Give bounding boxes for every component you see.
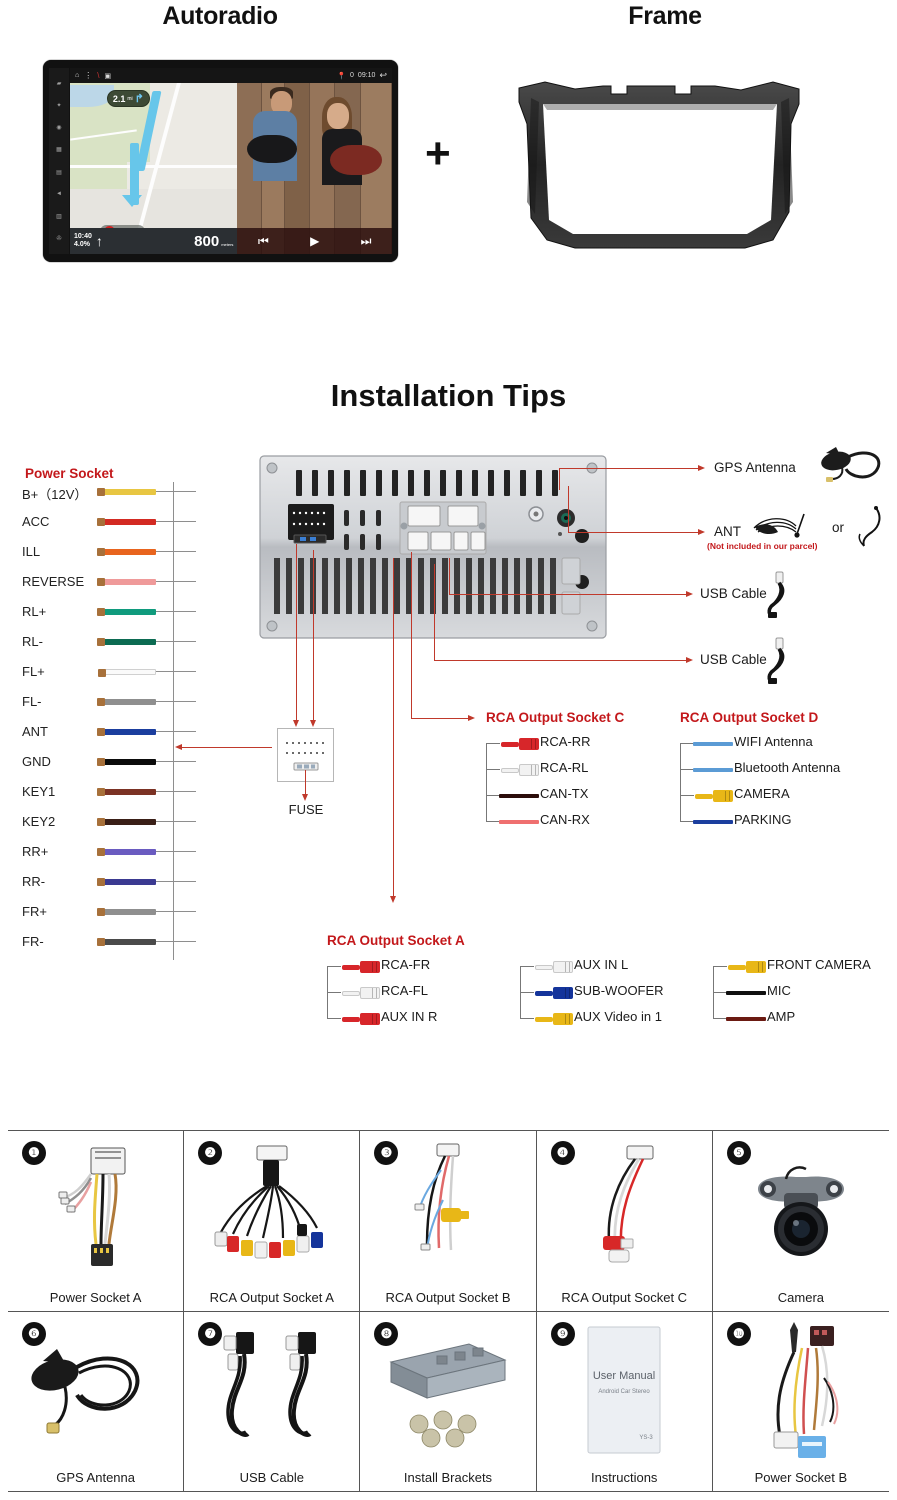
navigation-pane: 2.1 mi ↱ 30 30 mph 10:40 4.0% [70, 83, 237, 254]
power-wire-label: FL- [22, 694, 42, 709]
device-sidebar: ▰ ✦ ◉ ▦ ▤ ◄ ▥ ✇ [49, 68, 69, 254]
previous-track-icon[interactable]: ⏮ [258, 234, 269, 249]
power-wire-label: ACC [22, 514, 49, 529]
socket-item-label: SUB-WOOFER [574, 983, 664, 998]
turn-distance-unit: mi [127, 96, 132, 102]
socket-item-lead [327, 966, 341, 967]
ant-line-v [568, 486, 569, 532]
power-wire-row: REVERSE [22, 574, 192, 592]
power-wire-row: KEY1 [22, 784, 192, 802]
power-wire-swatch [104, 939, 156, 945]
autoradio-title: Autoradio [110, 2, 330, 31]
accessory-label: Power Socket B [755, 1470, 848, 1485]
accessory-cell: ❺ Camera [713, 1131, 889, 1312]
power-wire-lead [156, 641, 196, 642]
power-wire-lead [156, 521, 196, 522]
socket-item-lead [520, 1018, 534, 1019]
socket-item-label: CAN-TX [540, 786, 588, 801]
rca-plug-icon [533, 1013, 573, 1025]
video-pane: ⏮ ▶ ⏭ [237, 83, 392, 254]
screen-body: 2.1 mi ↱ 30 30 mph 10:40 4.0% [70, 83, 392, 254]
socket-item-label: AUX IN L [574, 957, 628, 972]
turn-distance: 2.1 [113, 94, 126, 104]
volume-icon: ◄ [54, 190, 65, 199]
power-wire-lead [156, 881, 196, 882]
socket-bracket [713, 966, 714, 1018]
power-wire-swatch [104, 879, 156, 885]
socket-item-lead [680, 821, 694, 822]
power-wire-label: REVERSE [22, 574, 84, 589]
power-wire-swatch [104, 849, 156, 855]
power-wire-lead [156, 671, 196, 672]
status-time: 09:10 [358, 72, 376, 79]
usb-cable-2-label: USB Cable [700, 652, 767, 667]
power-wire-lead [156, 761, 196, 762]
accessory-cell: ❸ RCA Output Socket B [360, 1131, 536, 1312]
socket-item-label: AMP [767, 1009, 795, 1024]
socket-item-label: WIFI Antenna [734, 734, 813, 749]
power-wire-label: RL- [22, 634, 43, 649]
power-wire-row: RL- [22, 634, 192, 652]
power-wire-lead [156, 731, 196, 732]
chassis-to-fuse-line-2 [313, 550, 314, 722]
accessory-label: Camera [778, 1290, 824, 1305]
accessory-label: Instructions [591, 1470, 657, 1485]
gps-line-h1 [559, 468, 629, 469]
socket-bracket [486, 743, 487, 821]
power-wire-lead [156, 911, 196, 912]
socket-c-title: RCA Output Socket C [486, 710, 624, 725]
accessories-grid: ❶ Power Socket A❷ [8, 1130, 889, 1492]
socket-item: AUX IN L [520, 958, 720, 976]
fuse-to-bracket-line [182, 747, 272, 748]
socket-item: RCA-RL [486, 761, 686, 779]
socket-item: CAMERA [680, 787, 880, 805]
gps-line-h2 [629, 468, 699, 469]
socket-item-label: PARKING [734, 812, 792, 827]
power-wire-lead [156, 791, 196, 792]
socket-bracket [520, 966, 521, 1018]
power-socket-bracket [173, 482, 174, 960]
media-icon: ▤ [54, 168, 65, 177]
socket-item-lead [327, 1018, 341, 1019]
wire-icon [693, 820, 733, 824]
socket-item-lead [680, 743, 694, 744]
power-wire-label: RR+ [22, 844, 48, 859]
rca-plug-icon [499, 738, 539, 750]
socket-item-lead [680, 769, 694, 770]
navigation-bottom-bar: 10:40 4.0% ↑ 800 meters [70, 228, 237, 254]
socket-item-label: Bluetooth Antenna [734, 760, 840, 775]
accessory-label: RCA Output Socket A [210, 1290, 334, 1305]
socket-item: SUB-WOOFER [520, 984, 720, 1002]
power-wire-lead [156, 581, 196, 582]
camera-art [713, 1131, 889, 1290]
socket-a-title: RCA Output Socket A [327, 933, 465, 948]
socketa-arrow-icon [390, 896, 396, 903]
rca-plug-icon [340, 987, 380, 999]
power-wire-row: B+（12V） [22, 484, 192, 502]
power-wire-label: FR+ [22, 904, 47, 919]
head-unit-rear-image [258, 452, 608, 642]
ant-line-h [568, 532, 699, 533]
rca-socket-a-art [184, 1131, 359, 1290]
chassis-to-fuse-line-1 [296, 544, 297, 722]
socket-item: PARKING [680, 813, 880, 831]
power-wire-swatch [104, 639, 156, 645]
device-screen: ⌂ ⋮ \ ▣ 📍 0 09:10 ↩ [70, 68, 392, 254]
wire-icon [726, 991, 766, 995]
wire-icon [693, 768, 733, 772]
power-wire-swatch [104, 789, 156, 795]
accessory-cell: ❻ GPS Antenna [8, 1312, 184, 1493]
power-wire-label: B+（12V） [22, 484, 87, 503]
socket-item-lead [486, 821, 500, 822]
power-wire-swatch [104, 819, 156, 825]
svg-text:Android Car Stereo: Android Car Stereo [599, 1389, 651, 1395]
power-wire-row: FR- [22, 934, 192, 952]
wire-icon [499, 794, 539, 798]
socket-item: FRONT CAMERA [713, 958, 897, 976]
power-wire-label: GND [22, 754, 51, 769]
screen-status-bar: ⌂ ⋮ \ ▣ 📍 0 09:10 ↩ [70, 68, 392, 83]
power-wire-lead [156, 851, 196, 852]
socket-item-label: AUX IN R [381, 1009, 437, 1024]
rca-plug-icon [499, 764, 539, 776]
brackets-art [360, 1312, 535, 1471]
power-wire-swatch [104, 489, 156, 495]
power-wire-row: GND [22, 754, 192, 772]
rca-plug-icon [533, 961, 573, 973]
remaining-distance: 800 [194, 233, 219, 250]
gps-antenna-icon [818, 445, 890, 490]
product-overview-section: Autoradio Frame ▰ ✦ ◉ ▦ ▤ ◄ ▥ ✇ ⌂ ⋮ \ ▣ … [0, 0, 897, 300]
rca-socket-b-art [360, 1131, 535, 1290]
direction-arrow-icon: ↑ [96, 233, 103, 249]
socket-bracket [680, 743, 681, 821]
frame-title: Frame [560, 2, 770, 31]
accessory-label: RCA Output Socket C [561, 1290, 687, 1305]
power-wire-swatch [104, 729, 156, 735]
power-wire-label: RL+ [22, 604, 46, 619]
accessory-cell: ❹ RCA Output Socket C [537, 1131, 713, 1312]
remaining-distance-block: 800 meters [194, 233, 233, 250]
socket-item-label: MIC [767, 983, 791, 998]
gps-antenna-art [8, 1312, 183, 1471]
power-wire-row: FL- [22, 694, 192, 712]
location-icon: ◉ [54, 123, 65, 132]
ant-alt-antenna-icon [856, 506, 892, 555]
back-icon: ↩ [379, 70, 387, 81]
usb-cable-1-icon [762, 570, 792, 623]
power-wire-swatch [104, 519, 156, 525]
usb-cable-2-icon [762, 636, 792, 689]
power-wire-lead [156, 701, 196, 702]
power-socket-title: Power Socket [25, 466, 114, 481]
socket-item-lead [713, 1018, 727, 1019]
accessory-label: Install Brackets [404, 1470, 492, 1485]
settings-icon: ✇ [54, 234, 65, 243]
next-track-icon[interactable]: ⏭ [361, 234, 372, 249]
home-icon: ⌂ [75, 72, 79, 79]
accessory-label: RCA Output Socket B [385, 1290, 510, 1305]
power-wire-lead [156, 551, 196, 552]
sd-icon: ▣ [104, 72, 111, 80]
socket-item: Bluetooth Antenna [680, 761, 880, 779]
rca-plug-icon [533, 987, 573, 999]
socket-item-lead [680, 795, 694, 796]
wifi-icon: ▰ [54, 79, 65, 88]
usb1-line-h [449, 594, 687, 595]
svg-text:YS-3: YS-3 [640, 1435, 654, 1441]
socket-item: RCA-RR [486, 735, 686, 753]
power-wire-row: FR+ [22, 904, 192, 922]
fuse-label: FUSE [262, 802, 350, 817]
socket-item-label: CAMERA [734, 786, 790, 801]
gps-antenna-label: GPS Antenna [714, 460, 796, 475]
accessory-label: GPS Antenna [56, 1470, 135, 1485]
socket-item-lead [327, 992, 341, 993]
plus-symbol: + [425, 132, 451, 176]
fuse-label-arrow-icon [302, 794, 308, 801]
socket-item-label: AUX Video in 1 [574, 1009, 662, 1024]
gps-count: 0 [350, 72, 354, 79]
svg-text:User Manual: User Manual [593, 1370, 655, 1382]
power-socket-a-art [8, 1131, 183, 1290]
ant-or-label: or [832, 520, 844, 535]
power-wire-row: ILL [22, 544, 192, 562]
power-wire-label: RR- [22, 874, 45, 889]
rca-socket-c-art [537, 1131, 712, 1290]
power-wire-swatch [104, 909, 156, 915]
accessory-cell: ❿ Power Socket B [713, 1312, 889, 1493]
usb-cable-1-label: USB Cable [700, 586, 767, 601]
ant-note: (Not included in our parcel) [707, 541, 818, 551]
power-wire-row: ACC [22, 514, 192, 532]
manual-art: User Manual Android Car Stereo YS-3 [537, 1312, 712, 1471]
gps-arrow-icon [698, 465, 705, 471]
usb1-line-v [449, 558, 450, 594]
socket-d-title: RCA Output Socket D [680, 710, 818, 725]
power-wire-lead [156, 611, 196, 612]
socket-item-lead [713, 992, 727, 993]
accessory-cell: ❽ Install Brackets [360, 1312, 536, 1493]
remaining-distance-unit: meters [221, 242, 233, 247]
power-wire-label: ILL [22, 544, 40, 559]
socketc-arrow-icon [468, 715, 475, 721]
socket-item-lead [486, 743, 500, 744]
power-wire-label: KEY1 [22, 784, 55, 799]
power-socket-b-art [713, 1312, 889, 1471]
fuse-to-bracket-arrow-icon [175, 744, 182, 750]
socket-item-lead [713, 966, 727, 967]
socket-item: RCA-FR [327, 958, 527, 976]
power-wire-swatch [104, 699, 156, 705]
socket-item-label: CAN-RX [540, 812, 590, 827]
socket-item: AMP [713, 1010, 897, 1028]
socket-item: MIC [713, 984, 897, 1002]
ant-arrow-icon [698, 529, 705, 535]
ant-label: ANT [714, 524, 741, 539]
accessory-label: USB Cable [240, 1470, 304, 1485]
power-wire-row: RR- [22, 874, 192, 892]
accessory-cell: ❾ User Manual Android Car Stereo YS-3 In… [537, 1312, 713, 1493]
socket-item-label: FRONT CAMERA [767, 957, 871, 972]
power-wire-row: FL+ [22, 664, 192, 682]
chassis-to-fuse-arrow-2-icon [310, 720, 316, 727]
socketc-line-h [411, 718, 469, 719]
socket-item-label: RCA-RL [540, 760, 588, 775]
socketc-line-v [411, 552, 412, 718]
rca-plug-icon [726, 961, 766, 973]
power-wire-lead [156, 491, 196, 492]
turn-instruction-badge: 2.1 mi ↱ [107, 90, 150, 107]
socket-item: CAN-TX [486, 787, 686, 805]
media-controls: ⏮ ▶ ⏭ [237, 228, 392, 254]
power-wire-row: ANT [22, 724, 192, 742]
signal-icon: \ [97, 71, 99, 80]
accessory-label: Power Socket A [50, 1290, 142, 1305]
usb2-line-h [434, 660, 687, 661]
rca-plug-icon [693, 790, 733, 802]
power-wire-label: FL+ [22, 664, 45, 679]
turn-arrow-icon: ↱ [135, 92, 144, 105]
rca-plug-icon [340, 1013, 380, 1025]
accessory-cell: ❷ RCA Output Socket A [184, 1131, 360, 1312]
socket-item: AUX IN R [327, 1010, 527, 1028]
installation-diagram: Power Socket B+（12V）ACCILLREVERSERL+RL-F… [0, 440, 897, 1070]
socket-bracket [327, 966, 328, 1018]
wire-icon [726, 1017, 766, 1021]
gps-line-v [559, 468, 560, 490]
autoradio-device-image: ▰ ✦ ◉ ▦ ▤ ◄ ▥ ✇ ⌂ ⋮ \ ▣ 📍 0 09:10 ↩ [43, 60, 398, 262]
socket-item: AUX Video in 1 [520, 1010, 720, 1028]
location-pin-icon: 📍 [337, 72, 346, 80]
power-wire-label: FR- [22, 934, 44, 949]
power-wire-label: KEY2 [22, 814, 55, 829]
eta-distance: 4.0% [74, 241, 92, 249]
socket-item-lead [486, 769, 500, 770]
power-wire-row: KEY2 [22, 814, 192, 832]
usb1-arrow-icon [686, 591, 693, 597]
socket-item-label: RCA-RR [540, 734, 591, 749]
socket-item-lead [520, 966, 534, 967]
power-wire-swatch [104, 549, 156, 555]
power-wire-swatch [104, 579, 156, 585]
socket-item: CAN-RX [486, 813, 686, 831]
chassis-to-fuse-arrow-1-icon [293, 720, 299, 727]
power-wire-lead [156, 821, 196, 822]
frame-part-image [515, 62, 805, 262]
socket-item-label: RCA-FR [381, 957, 430, 972]
usb-cable-art [184, 1312, 359, 1471]
power-wire-swatch [104, 609, 156, 615]
power-wire-lead [156, 941, 196, 942]
socket-item-lead [520, 992, 534, 993]
power-wire-swatch [104, 669, 156, 675]
power-wire-row: RR+ [22, 844, 192, 862]
bluetooth-icon: ✦ [54, 101, 65, 110]
usb2-arrow-icon [686, 657, 693, 663]
rca-plug-icon [340, 961, 380, 973]
menu-dots-icon: ⋮ [84, 71, 92, 80]
equalizer-icon: ▥ [54, 212, 65, 221]
socket-item: RCA-FL [327, 984, 527, 1002]
installation-tips-title: Installation Tips [0, 378, 897, 414]
socket-item: WIFI Antenna [680, 735, 880, 753]
socketa-line-v [393, 558, 394, 898]
power-wire-label: ANT [22, 724, 48, 739]
apps-icon: ▦ [54, 145, 65, 154]
socket-item-lead [486, 795, 500, 796]
power-wire-swatch [104, 759, 156, 765]
usb2-line-v [434, 564, 435, 660]
eta-block: 10:40 4.0% [74, 233, 92, 249]
power-wire-row: RL+ [22, 604, 192, 622]
play-icon[interactable]: ▶ [310, 234, 319, 248]
accessory-cell: ❶ Power Socket A [8, 1131, 184, 1312]
socket-item-label: RCA-FL [381, 983, 428, 998]
accessory-cell: ❼ USB Cable [184, 1312, 360, 1493]
wire-icon [693, 742, 733, 746]
wire-icon [499, 820, 539, 824]
eta-time: 10:40 [74, 233, 92, 241]
